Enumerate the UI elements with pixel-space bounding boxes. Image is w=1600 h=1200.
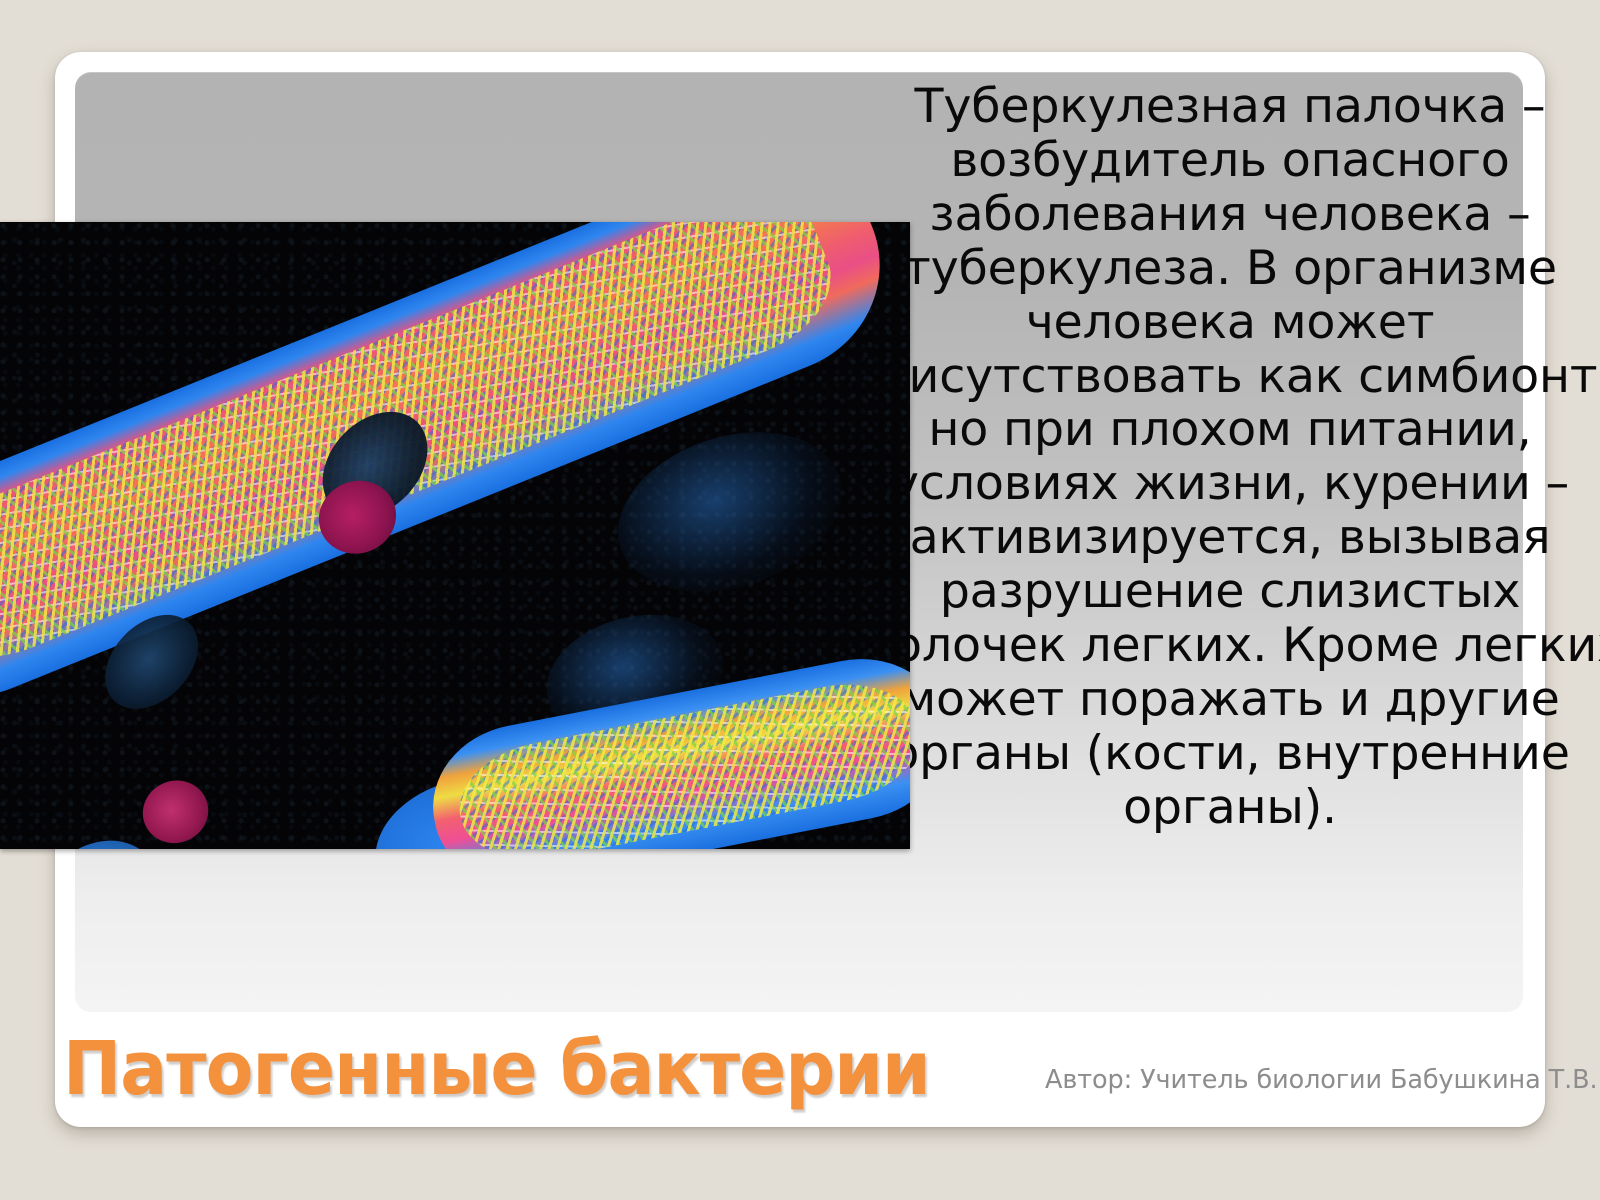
photo-background: [0, 222, 910, 849]
micrograph-image: [0, 222, 910, 849]
content-panel: Туберкулезная палочка – возбудитель опас…: [75, 72, 1523, 1012]
page-title: Патогенные бактерии: [63, 1029, 930, 1109]
slide-root: Туберкулезная палочка – возбудитель опас…: [0, 0, 1600, 1200]
author-credit: Автор: Учитель биологии Бабушкина Т.В.: [1045, 1065, 1598, 1095]
slide-card: Туберкулезная палочка – возбудитель опас…: [55, 52, 1545, 1127]
body-paragraph: Туберкулезная палочка – возбудитель опас…: [835, 80, 1600, 835]
title-row: Патогенные бактерии Автор: Учитель биоло…: [55, 1027, 1545, 1122]
